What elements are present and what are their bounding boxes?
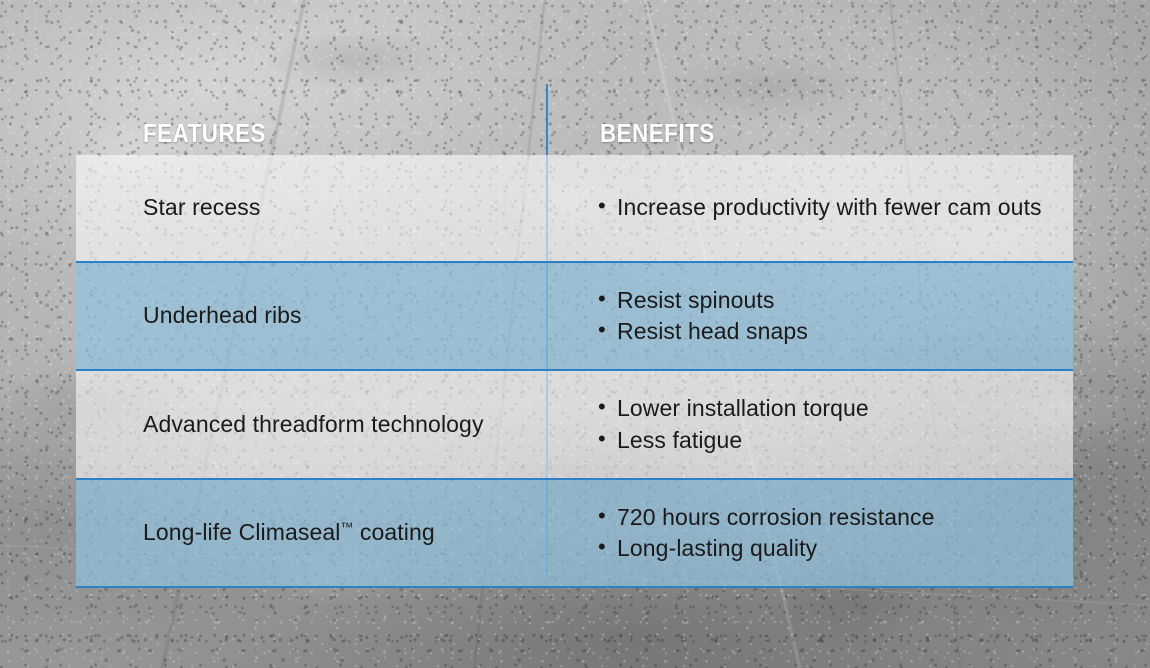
features-benefits-table: FEATURES BENEFITS Star recess Increase p… (76, 84, 1073, 578)
benefit-list: 720 hours corrosion resistance Long-last… (597, 503, 1049, 564)
feature-text-suffix: coating (353, 519, 434, 545)
poster-canvas: FEATURES BENEFITS Star recess Increase p… (0, 0, 1150, 668)
feature-cell: Long-life Climaseal™ coating (76, 518, 546, 547)
table-row: Long-life Climaseal™ coating 720 hours c… (76, 478, 1073, 588)
benefit-cell: Resist spinouts Resist head snaps (546, 286, 1073, 347)
benefit-list-item: Long-lasting quality (597, 534, 1049, 563)
feature-cell: Advanced threadform technology (76, 410, 546, 439)
column-header-features: FEATURES (143, 120, 266, 146)
benefit-cell: 720 hours corrosion resistance Long-last… (546, 503, 1073, 564)
benefit-list-item: Increase productivity with fewer cam out… (597, 193, 1049, 222)
trademark-symbol: ™ (341, 520, 354, 535)
benefit-cell: Lower installation torque Less fatigue (546, 394, 1073, 455)
benefit-list: Increase productivity with fewer cam out… (597, 193, 1049, 222)
benefit-list-item: Less fatigue (597, 426, 1049, 455)
table-row: Star recess Increase productivity with f… (76, 155, 1073, 261)
feature-cell: Star recess (76, 193, 546, 222)
benefit-list-item: Resist spinouts (597, 286, 1049, 315)
benefit-list-item: Lower installation torque (597, 394, 1049, 423)
table-row: Advanced threadform technology Lower ins… (76, 371, 1073, 478)
feature-text-prefix: Long-life Climaseal (143, 519, 341, 545)
column-header-benefits: BENEFITS (600, 120, 715, 146)
benefit-list-item: 720 hours corrosion resistance (597, 503, 1049, 532)
table-header-row: FEATURES BENEFITS (76, 84, 1073, 155)
table-body: Star recess Increase productivity with f… (76, 155, 1073, 588)
feature-cell: Underhead ribs (76, 301, 546, 330)
benefit-list: Lower installation torque Less fatigue (597, 394, 1049, 455)
benefit-cell: Increase productivity with fewer cam out… (546, 193, 1073, 222)
benefit-list-item: Resist head snaps (597, 317, 1049, 346)
benefit-list: Resist spinouts Resist head snaps (597, 286, 1049, 347)
table-row: Underhead ribs Resist spinouts Resist he… (76, 261, 1073, 371)
